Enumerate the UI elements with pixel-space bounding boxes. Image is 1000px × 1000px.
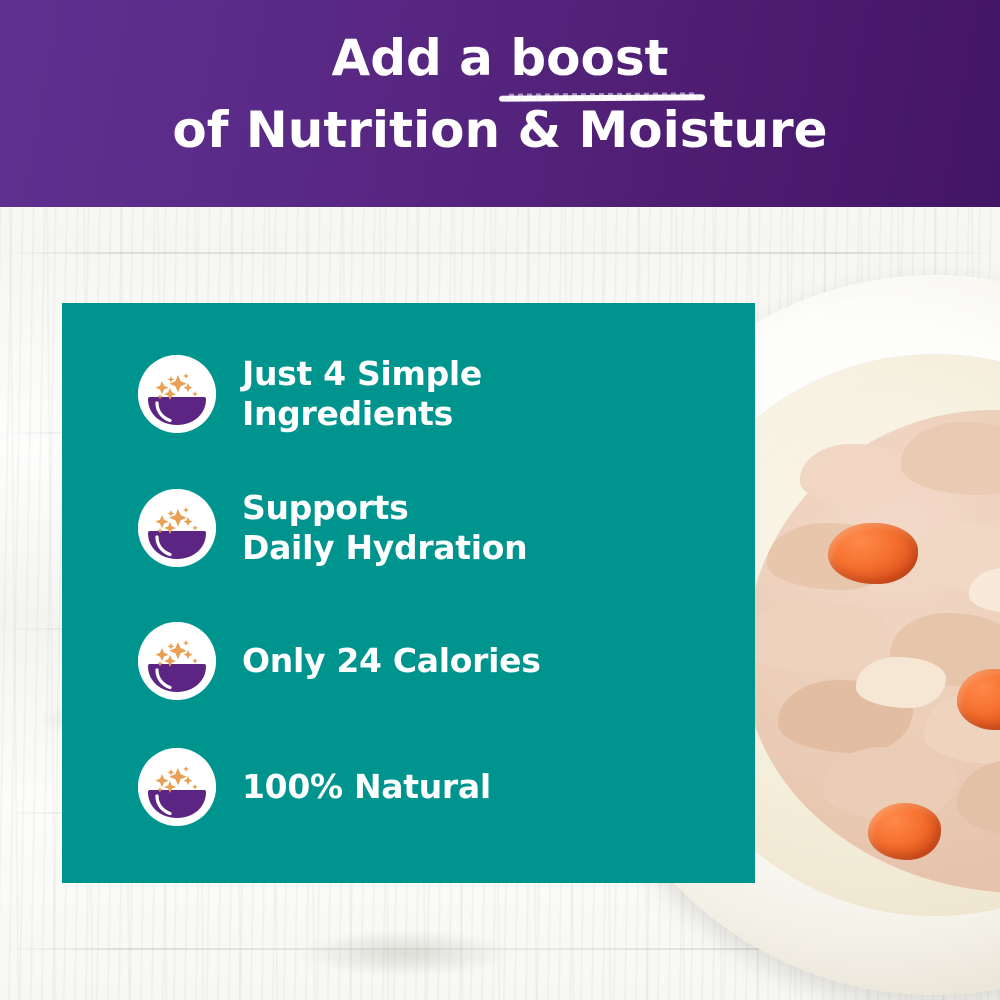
header-title-line1: Add a boost	[0, 30, 1000, 86]
feature-label: Only 24 Calories	[242, 641, 541, 681]
feature-row: Only 24 Calories	[138, 622, 541, 700]
sparkle-bowl-icon	[138, 355, 216, 433]
promo-image-canvas: Add a boost of Nutrition & Moisture Just…	[0, 0, 1000, 1000]
feature-label: 100% Natural	[242, 767, 491, 807]
feature-label: Supports Daily Hydration	[242, 488, 527, 568]
feature-row: Just 4 Simple Ingredients	[138, 354, 482, 434]
sparkle-bowl-icon-svg	[138, 355, 216, 433]
sparkle-bowl-icon-svg	[138, 489, 216, 567]
sparkle-bowl-icon	[138, 748, 216, 826]
sparkle-bowl-icon-svg	[138, 748, 216, 826]
shrimp-piece	[828, 523, 918, 585]
feature-row: Supports Daily Hydration	[138, 488, 527, 568]
sparkle-bowl-icon	[138, 489, 216, 567]
header-title-line2: of Nutrition & Moisture	[0, 100, 1000, 160]
sparkle-bowl-icon-svg	[138, 622, 216, 700]
feature-label: Just 4 Simple Ingredients	[242, 354, 482, 434]
sparkle-bowl-icon	[138, 622, 216, 700]
shrimp-piece	[868, 803, 941, 859]
feature-row: 100% Natural	[138, 748, 491, 826]
header-banner: Add a boost of Nutrition & Moisture	[0, 0, 1000, 207]
